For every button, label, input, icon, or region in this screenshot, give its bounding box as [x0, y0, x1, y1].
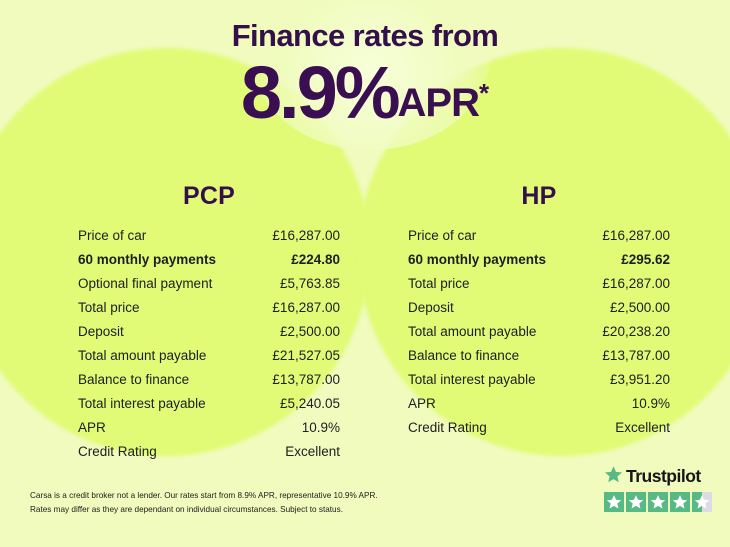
row-value: £224.80: [291, 252, 340, 267]
row-value: Excellent: [615, 420, 670, 435]
row-label: Balance to finance: [408, 348, 519, 363]
table-row: 60 monthly payments £295.62: [408, 252, 670, 276]
table-row: Total amount payable £21,527.05: [78, 348, 340, 372]
rating-star-filled: [626, 492, 646, 512]
rating-star-half: [692, 492, 712, 512]
row-value: £5,763.85: [280, 276, 340, 291]
table-row: APR 10.9%: [78, 420, 340, 444]
plan-hp-title: HP: [408, 182, 670, 211]
row-label: Deposit: [78, 324, 124, 339]
disclaimer: Carsa is a credit broker not a lender. O…: [30, 489, 460, 516]
table-row: Total price £16,287.00: [408, 276, 670, 300]
row-label: Total amount payable: [408, 324, 536, 339]
row-value: £2,500.00: [610, 300, 670, 315]
row-label: Credit Rating: [78, 444, 157, 459]
plan-pcp-rows: Price of car £16,287.00 60 monthly payme…: [78, 228, 340, 468]
row-value: £16,287.00: [602, 228, 670, 243]
table-row: Balance to finance £13,787.00: [408, 348, 670, 372]
row-label: Total price: [408, 276, 470, 291]
rate-value: 8.9%: [241, 51, 398, 134]
table-row: Optional final payment £5,763.85: [78, 276, 340, 300]
rate-asterisk: *: [479, 78, 489, 108]
row-value: £2,500.00: [280, 324, 340, 339]
row-label: Optional final payment: [78, 276, 212, 291]
table-row: Balance to finance £13,787.00: [78, 372, 340, 396]
row-value: £3,951.20: [610, 372, 670, 387]
headline-rate: 8.9%APR*: [0, 54, 730, 130]
row-label: Balance to finance: [78, 372, 189, 387]
row-label: Total interest payable: [78, 396, 206, 411]
trustpilot-widget[interactable]: Trustpilot: [604, 466, 716, 512]
table-row: Price of car £16,287.00: [78, 228, 340, 252]
table-row: APR 10.9%: [408, 396, 670, 420]
page-title: Finance rates from: [0, 0, 730, 54]
row-label: Total interest payable: [408, 372, 536, 387]
row-label: Credit Rating: [408, 420, 487, 435]
row-label: Total price: [78, 300, 140, 315]
row-value: £5,240.05: [280, 396, 340, 411]
row-value: £20,238.20: [602, 324, 670, 339]
disclaimer-line-1: Carsa is a credit broker not a lender. O…: [30, 489, 460, 503]
finance-rates-banner: Finance rates from 8.9%APR* PCP Price of…: [0, 0, 730, 547]
row-value: £13,787.00: [602, 348, 670, 363]
table-row: Total price £16,287.00: [78, 300, 340, 324]
row-label: 60 monthly payments: [408, 252, 546, 267]
table-row: Total amount payable £20,238.20: [408, 324, 670, 348]
row-value: 10.9%: [302, 420, 340, 435]
table-row: Deposit £2,500.00: [408, 300, 670, 324]
table-row: Credit Rating Excellent: [408, 420, 670, 444]
rating-star-filled: [604, 492, 624, 512]
row-label: Deposit: [408, 300, 454, 315]
row-label: APR: [78, 420, 106, 435]
row-label: Price of car: [408, 228, 476, 243]
plan-pcp-title: PCP: [78, 182, 340, 211]
row-value: £16,287.00: [602, 276, 670, 291]
row-value: £16,287.00: [272, 300, 340, 315]
row-value: Excellent: [285, 444, 340, 459]
table-row: Price of car £16,287.00: [408, 228, 670, 252]
row-label: Total amount payable: [78, 348, 206, 363]
rate-unit: APR: [398, 81, 479, 125]
table-row: Deposit £2,500.00: [78, 324, 340, 348]
trustpilot-rating-stars: [604, 492, 716, 512]
table-row: Credit Rating Excellent: [78, 444, 340, 468]
plan-hp: HP Price of car £16,287.00 60 monthly pa…: [408, 182, 670, 444]
row-value: £16,287.00: [272, 228, 340, 243]
row-label: 60 monthly payments: [78, 252, 216, 267]
header: Finance rates from 8.9%APR*: [0, 0, 730, 130]
plan-hp-rows: Price of car £16,287.00 60 monthly payme…: [408, 228, 670, 444]
table-row: 60 monthly payments £224.80: [78, 252, 340, 276]
row-label: Price of car: [78, 228, 146, 243]
trustpilot-name: Trustpilot: [626, 468, 701, 486]
trustpilot-wordmark: Trustpilot: [604, 466, 716, 488]
row-value: 10.9%: [632, 396, 670, 411]
row-value: £13,787.00: [272, 372, 340, 387]
rating-star-filled: [648, 492, 668, 512]
trustpilot-star-icon: [604, 465, 623, 489]
disclaimer-line-2: Rates may differ as they are dependant o…: [30, 503, 460, 517]
row-value: £21,527.05: [272, 348, 340, 363]
rating-star-filled: [670, 492, 690, 512]
plan-pcp: PCP Price of car £16,287.00 60 monthly p…: [78, 182, 340, 468]
table-row: Total interest payable £5,240.05: [78, 396, 340, 420]
row-label: APR: [408, 396, 436, 411]
row-value: £295.62: [621, 252, 670, 267]
table-row: Total interest payable £3,951.20: [408, 372, 670, 396]
